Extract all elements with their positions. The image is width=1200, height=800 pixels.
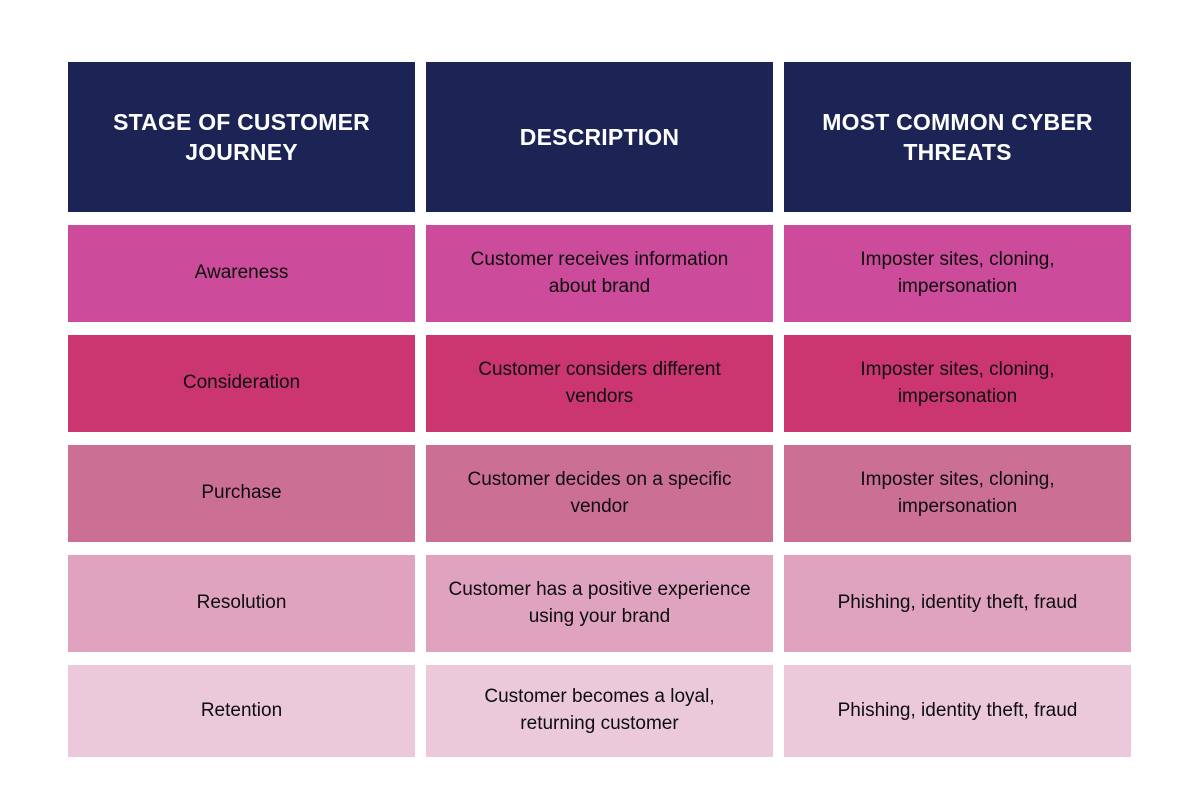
column-header-stage-label: Stage of Customer Journey (90, 107, 393, 168)
cell-threats: Imposter sites, cloning, impersonation (806, 467, 1109, 521)
table-row: Imposter sites, cloning, impersonation (784, 225, 1131, 322)
table-grid: Stage of Customer Journey Description Mo… (68, 62, 1132, 757)
cell-threats: Imposter sites, cloning, impersonation (806, 357, 1109, 411)
customer-journey-threats-table: Stage of Customer Journey Description Mo… (68, 62, 1132, 746)
cell-stage: Resolution (90, 590, 393, 617)
cell-threats: Imposter sites, cloning, impersonation (806, 247, 1109, 301)
table-row: Customer becomes a loyal, returning cust… (426, 665, 773, 757)
cell-threats: Phishing, identity theft, fraud (806, 698, 1109, 725)
cell-description: Customer receives information about bran… (448, 247, 751, 301)
table-row: Customer decides on a specific vendor (426, 445, 773, 542)
table-row: Phishing, identity theft, fraud (784, 555, 1131, 652)
table-row: Retention (68, 665, 415, 757)
column-header-description: Description (426, 62, 773, 212)
cell-stage: Retention (90, 698, 393, 725)
table-row: Purchase (68, 445, 415, 542)
cell-threats: Phishing, identity theft, fraud (806, 590, 1109, 617)
cell-description: Customer considers different vendors (448, 357, 751, 411)
table-row: Customer receives information about bran… (426, 225, 773, 322)
table-row: Customer considers different vendors (426, 335, 773, 432)
column-header-stage: Stage of Customer Journey (68, 62, 415, 212)
table-row: Awareness (68, 225, 415, 322)
cell-stage: Consideration (90, 370, 393, 397)
column-header-description-label: Description (448, 122, 751, 152)
table-row: Imposter sites, cloning, impersonation (784, 445, 1131, 542)
column-header-threats: Most Common Cyber Threats (784, 62, 1131, 212)
table-row: Customer has a positive experience using… (426, 555, 773, 652)
cell-description: Customer has a positive experience using… (448, 577, 751, 631)
cell-stage: Purchase (90, 480, 393, 507)
table-row: Phishing, identity theft, fraud (784, 665, 1131, 757)
column-header-threats-label: Most Common Cyber Threats (806, 107, 1109, 168)
table-row: Imposter sites, cloning, impersonation (784, 335, 1131, 432)
table-row: Resolution (68, 555, 415, 652)
cell-description: Customer decides on a specific vendor (448, 467, 751, 521)
table-row: Consideration (68, 335, 415, 432)
cell-description: Customer becomes a loyal, returning cust… (448, 684, 751, 738)
cell-stage: Awareness (90, 260, 393, 287)
